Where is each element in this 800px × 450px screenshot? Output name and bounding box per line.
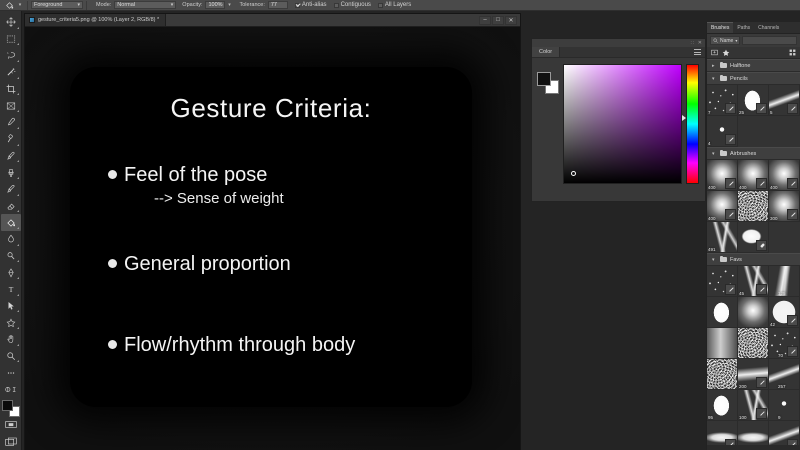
opacity-label: Opacity: [182, 2, 202, 8]
brush-nib-icon [756, 377, 767, 388]
document-thumbnail-icon [29, 17, 35, 23]
contiguous-checkbox[interactable]: Contiguous [334, 2, 371, 8]
brush-item[interactable]: 491 [707, 222, 738, 253]
brush-item[interactable]: 250 [738, 191, 769, 222]
brush-item[interactable]: 9 [769, 390, 800, 421]
folder-icon [720, 76, 727, 81]
hand-tool[interactable] [1, 331, 21, 348]
brush-item[interactable]: 45 [738, 266, 769, 297]
brush-item[interactable]: 257 [769, 359, 800, 390]
contiguous-label: Contiguous [341, 2, 371, 8]
brush-item[interactable] [707, 297, 738, 328]
brushes-panel: Brushes Paths Channels Name ▾ [706, 22, 800, 450]
foreground-color-swatch[interactable] [537, 72, 551, 86]
opacity-chevron-icon[interactable]: ▾ [225, 1, 233, 10]
brush-grid-favs: 45 125 42 [707, 266, 800, 450]
zoom-tool[interactable] [1, 348, 21, 365]
brush-size-label: 4 [708, 141, 711, 146]
chevron-down-icon: ▾ [77, 2, 80, 8]
chevron-down-icon: ▾ [712, 151, 717, 157]
slide-bullet-3: Flow/rhythm through body [108, 334, 446, 357]
slide-bullet-1-text: Feel of the pose [124, 164, 267, 187]
color-panel-swatches[interactable] [537, 72, 559, 94]
brush-item[interactable] [738, 222, 769, 253]
anti-alias-label: Anti-alias [302, 2, 327, 8]
grid-view-icon[interactable] [789, 49, 796, 56]
svg-text:T: T [8, 285, 13, 294]
brush-thumbnail [707, 328, 737, 358]
slide-bullet-3-text: Flow/rhythm through body [124, 334, 355, 357]
clone-stamp-tool[interactable] [1, 164, 21, 181]
options-bar: ▾ Foreground ▾ Mode: Normal ▾ Opacity: 1… [0, 0, 800, 11]
canvas-image: Gesture Criteria: Feel of the pose --> S… [25, 27, 520, 450]
brush-item[interactable]: 400 [707, 160, 738, 191]
brush-item[interactable]: 400 [769, 160, 800, 191]
brush-grid-airbrushes: 400 400 400 400 250 [707, 160, 800, 253]
brush-item[interactable] [738, 328, 769, 359]
quick-mask-icon[interactable] [1, 381, 21, 398]
maximize-button[interactable]: □ [492, 16, 504, 25]
hue-slider[interactable] [686, 64, 699, 184]
lasso-tool[interactable] [1, 47, 21, 64]
color-picker-body [532, 58, 705, 203]
anti-alias-checkbox[interactable]: Anti-alias [295, 2, 327, 8]
brush-nib-icon [756, 178, 767, 189]
close-icon[interactable]: ✕ [698, 40, 702, 46]
canvas-area[interactable]: Gesture Criteria: Feel of the pose --> S… [25, 27, 520, 450]
brush-size-label: 25 [739, 110, 744, 115]
tolerance-input[interactable]: 77 [268, 1, 288, 9]
brush-size-label: 9 [778, 415, 781, 420]
brush-group-label: Halftone [730, 63, 751, 69]
brush-item[interactable]: 100 [707, 359, 738, 390]
brush-nib-icon [725, 284, 736, 295]
tab-paths[interactable]: Paths [733, 22, 754, 33]
document-tab-bar: gesture_criteria5.png @ 100% (Layer 2, R… [25, 14, 520, 27]
brush-item[interactable]: 125 [769, 266, 800, 297]
document-window: gesture_criteria5.png @ 100% (Layer 2, R… [24, 13, 521, 450]
hue-slider-handle[interactable] [682, 115, 686, 121]
color-panel: ∷ ✕ Color [531, 38, 706, 202]
tool-preset-chevron-icon[interactable]: ▾ [16, 1, 24, 10]
brush-size-label: 400 [708, 216, 716, 221]
brush-nib-icon [725, 209, 736, 220]
brush-thumbnail [707, 297, 737, 327]
checkbox-box [378, 3, 383, 8]
brush-group-favs[interactable]: ▾ Favs [707, 253, 800, 266]
color-panel-titlebar[interactable]: ∷ ✕ [532, 39, 705, 47]
brush-nib-icon [787, 103, 798, 114]
search-field-label: Name [720, 38, 733, 44]
spot-healing-brush-tool[interactable] [1, 131, 21, 148]
brush-nib-icon [787, 315, 798, 326]
folder-icon [720, 151, 727, 156]
screen-mode-icon[interactable] [1, 433, 21, 450]
brush-thumbnail [738, 297, 768, 327]
brush-size-label: 250 [739, 216, 747, 221]
mode-label: Mode: [96, 2, 111, 8]
brush-item[interactable] [707, 328, 738, 359]
tab-channels[interactable]: Channels [754, 22, 783, 33]
eyedropper-tool[interactable] [1, 114, 21, 131]
brush-size-label: 7 [708, 110, 711, 115]
favorites-star-icon[interactable] [722, 49, 730, 57]
brush-item[interactable]: 200 [738, 359, 769, 390]
brush-size-label: 5 [770, 110, 773, 115]
brush-nib-icon [756, 408, 767, 419]
brushes-panel-tabs: Brushes Paths Channels [707, 22, 800, 34]
brush-nib-icon [787, 209, 798, 220]
brush-item[interactable]: 4 [707, 116, 738, 147]
brush-tool[interactable] [1, 148, 21, 165]
color-field-marker [571, 171, 576, 176]
pen-tool[interactable] [1, 264, 21, 281]
brush-size-label: 491 [708, 247, 716, 252]
brush-nib-icon [725, 134, 736, 145]
search-icon [713, 38, 718, 43]
brush-size-label: 200 [739, 384, 747, 389]
paint-bucket-icon[interactable] [3, 1, 16, 10]
brush-size-label: 42 [770, 322, 775, 327]
eraser-tool[interactable] [1, 198, 21, 215]
blend-mode-value: Normal [117, 2, 167, 8]
shape-tool[interactable] [1, 314, 21, 331]
frame-tool[interactable] [1, 97, 21, 114]
brush-item[interactable]: 42 [769, 297, 800, 328]
brush-item[interactable] [707, 266, 738, 297]
crop-tool[interactable] [1, 81, 21, 98]
chevron-down-icon: ▾ [171, 2, 174, 8]
brush-item[interactable] [738, 297, 769, 328]
slide-title: Gesture Criteria: [96, 93, 446, 124]
brush-group-label: Favs [730, 257, 742, 263]
divider [27, 1, 28, 10]
slide-bullet-2: General proportion [108, 253, 446, 276]
close-button[interactable]: ✕ [505, 16, 517, 25]
brush-nib-icon [756, 103, 767, 114]
brush-group-halftone[interactable]: ▸ Halftone [707, 59, 800, 72]
brush-nib-icon [787, 346, 798, 357]
brush-size-label: 257 [778, 384, 786, 389]
brush-group-label: Airbrushes [730, 151, 756, 157]
brush-item[interactable]: 5 [769, 85, 800, 116]
brush-item[interactable]: 300 [769, 191, 800, 222]
tab-brushes[interactable]: Brushes [707, 22, 733, 33]
photoshop-window: ▾ Foreground ▾ Mode: Normal ▾ Opacity: 1… [0, 0, 800, 450]
brush-nib-icon [725, 103, 736, 114]
bullet-dot-icon [108, 170, 117, 179]
new-group-icon[interactable] [711, 49, 718, 56]
blur-tool[interactable] [1, 231, 21, 248]
brush-group-pencils[interactable]: ▾ Pencils [707, 72, 800, 85]
document-tab[interactable]: gesture_criteria5.png @ 100% (Layer 2, R… [25, 14, 166, 26]
brush-nib-icon [725, 178, 736, 189]
checkbox-box [295, 3, 300, 8]
opacity-input[interactable]: 100% [205, 1, 225, 9]
brush-size-label: 100 [708, 384, 716, 389]
history-brush-tool[interactable] [1, 181, 21, 198]
fill-source-value: Foreground [34, 2, 74, 8]
slide-bullet-2-text: General proportion [124, 253, 291, 276]
opacity-value: 100% [208, 2, 222, 8]
folder-icon [720, 257, 727, 262]
tools-panel: T [0, 11, 22, 450]
brush-group-airbrushes[interactable]: ▾ Airbrushes [707, 147, 800, 160]
edit-toolbar-tool[interactable] [1, 364, 21, 381]
tab-color[interactable]: Color [532, 47, 560, 57]
tolerance-value: 77 [271, 2, 277, 8]
brush-item[interactable]: 95 [707, 390, 738, 421]
checkbox-box [334, 3, 339, 8]
brush-panel-scrollbar[interactable] [707, 445, 800, 450]
brush-thumbnail [769, 390, 799, 420]
brush-size-label: 400 [739, 185, 747, 190]
divider [86, 1, 87, 10]
brush-nib-icon [756, 240, 767, 251]
move-tool[interactable] [1, 14, 21, 31]
brush-panel-toolbar [707, 47, 800, 59]
folder-icon [720, 63, 727, 68]
chevron-down-icon: ▾ [712, 76, 717, 82]
foreground-color-swatch[interactable] [2, 400, 13, 411]
brush-item[interactable]: 400 [707, 191, 738, 222]
brush-size-label: 400 [708, 185, 716, 190]
brush-item[interactable]: 25 [738, 85, 769, 116]
brush-item[interactable]: 100 [738, 390, 769, 421]
brush-size-label: 125 [778, 291, 786, 296]
type-tool[interactable]: T [1, 281, 21, 298]
minimize-button[interactable]: – [479, 16, 491, 25]
dodge-tool[interactable] [1, 248, 21, 265]
brush-item[interactable]: 400 [738, 160, 769, 191]
all-layers-label: All Layers [385, 2, 411, 8]
saturation-brightness-field[interactable] [563, 64, 682, 184]
brush-item[interactable]: 7 [707, 85, 738, 116]
brush-thumbnail [738, 328, 768, 358]
chevron-right-icon: ▸ [712, 63, 717, 69]
magic-wand-tool[interactable] [1, 64, 21, 81]
brush-size-label: 45 [739, 291, 744, 296]
bullet-dot-icon [108, 259, 117, 268]
blend-mode-select[interactable]: Normal ▾ [114, 1, 176, 9]
panel-menu-icon[interactable] [694, 47, 705, 57]
color-swatches[interactable] [2, 400, 20, 417]
document-tab-title: gesture_criteria5.png @ 100% (Layer 2, R… [38, 17, 159, 23]
all-layers-checkbox[interactable]: All Layers [378, 2, 411, 8]
brush-nib-icon [756, 284, 767, 295]
brush-size-label: 95 [708, 415, 713, 420]
quick-mask-toggle[interactable] [1, 417, 21, 434]
brush-nib-icon [787, 178, 798, 189]
brush-size-label: 70 [778, 353, 783, 358]
chevron-down-icon: ▾ [712, 257, 717, 263]
fill-source-select[interactable]: Foreground ▾ [31, 1, 83, 9]
window-controls: – □ ✕ [479, 14, 520, 26]
paint-bucket-tool[interactable] [1, 214, 21, 231]
brush-grid-pencils: 7 25 5 4 [707, 85, 800, 147]
brush-size-label: 300 [770, 216, 778, 221]
presentation-slide: Gesture Criteria: Feel of the pose --> S… [70, 67, 472, 407]
brush-size-label: 100 [739, 415, 747, 420]
search-field-select[interactable]: Name ▾ [710, 36, 740, 45]
slide-bullet-1-sub: --> Sense of weight [154, 190, 446, 207]
rectangular-marquee-tool[interactable] [1, 31, 21, 48]
bullet-dot-icon [108, 340, 117, 349]
brush-item[interactable]: 70 [769, 328, 800, 359]
tolerance-label: Tolerance: [239, 2, 264, 8]
brush-size-label: 400 [770, 185, 778, 190]
panel-collapse-icon[interactable]: ∷ [691, 40, 695, 46]
brush-group-label: Pencils [730, 76, 748, 82]
brush-search-row: Name ▾ [707, 34, 800, 47]
slide-bullet-1: Feel of the pose [108, 164, 446, 187]
path-selection-tool[interactable] [1, 298, 21, 315]
brush-search-input[interactable] [742, 36, 797, 45]
color-panel-tabrow: Color [532, 47, 705, 58]
